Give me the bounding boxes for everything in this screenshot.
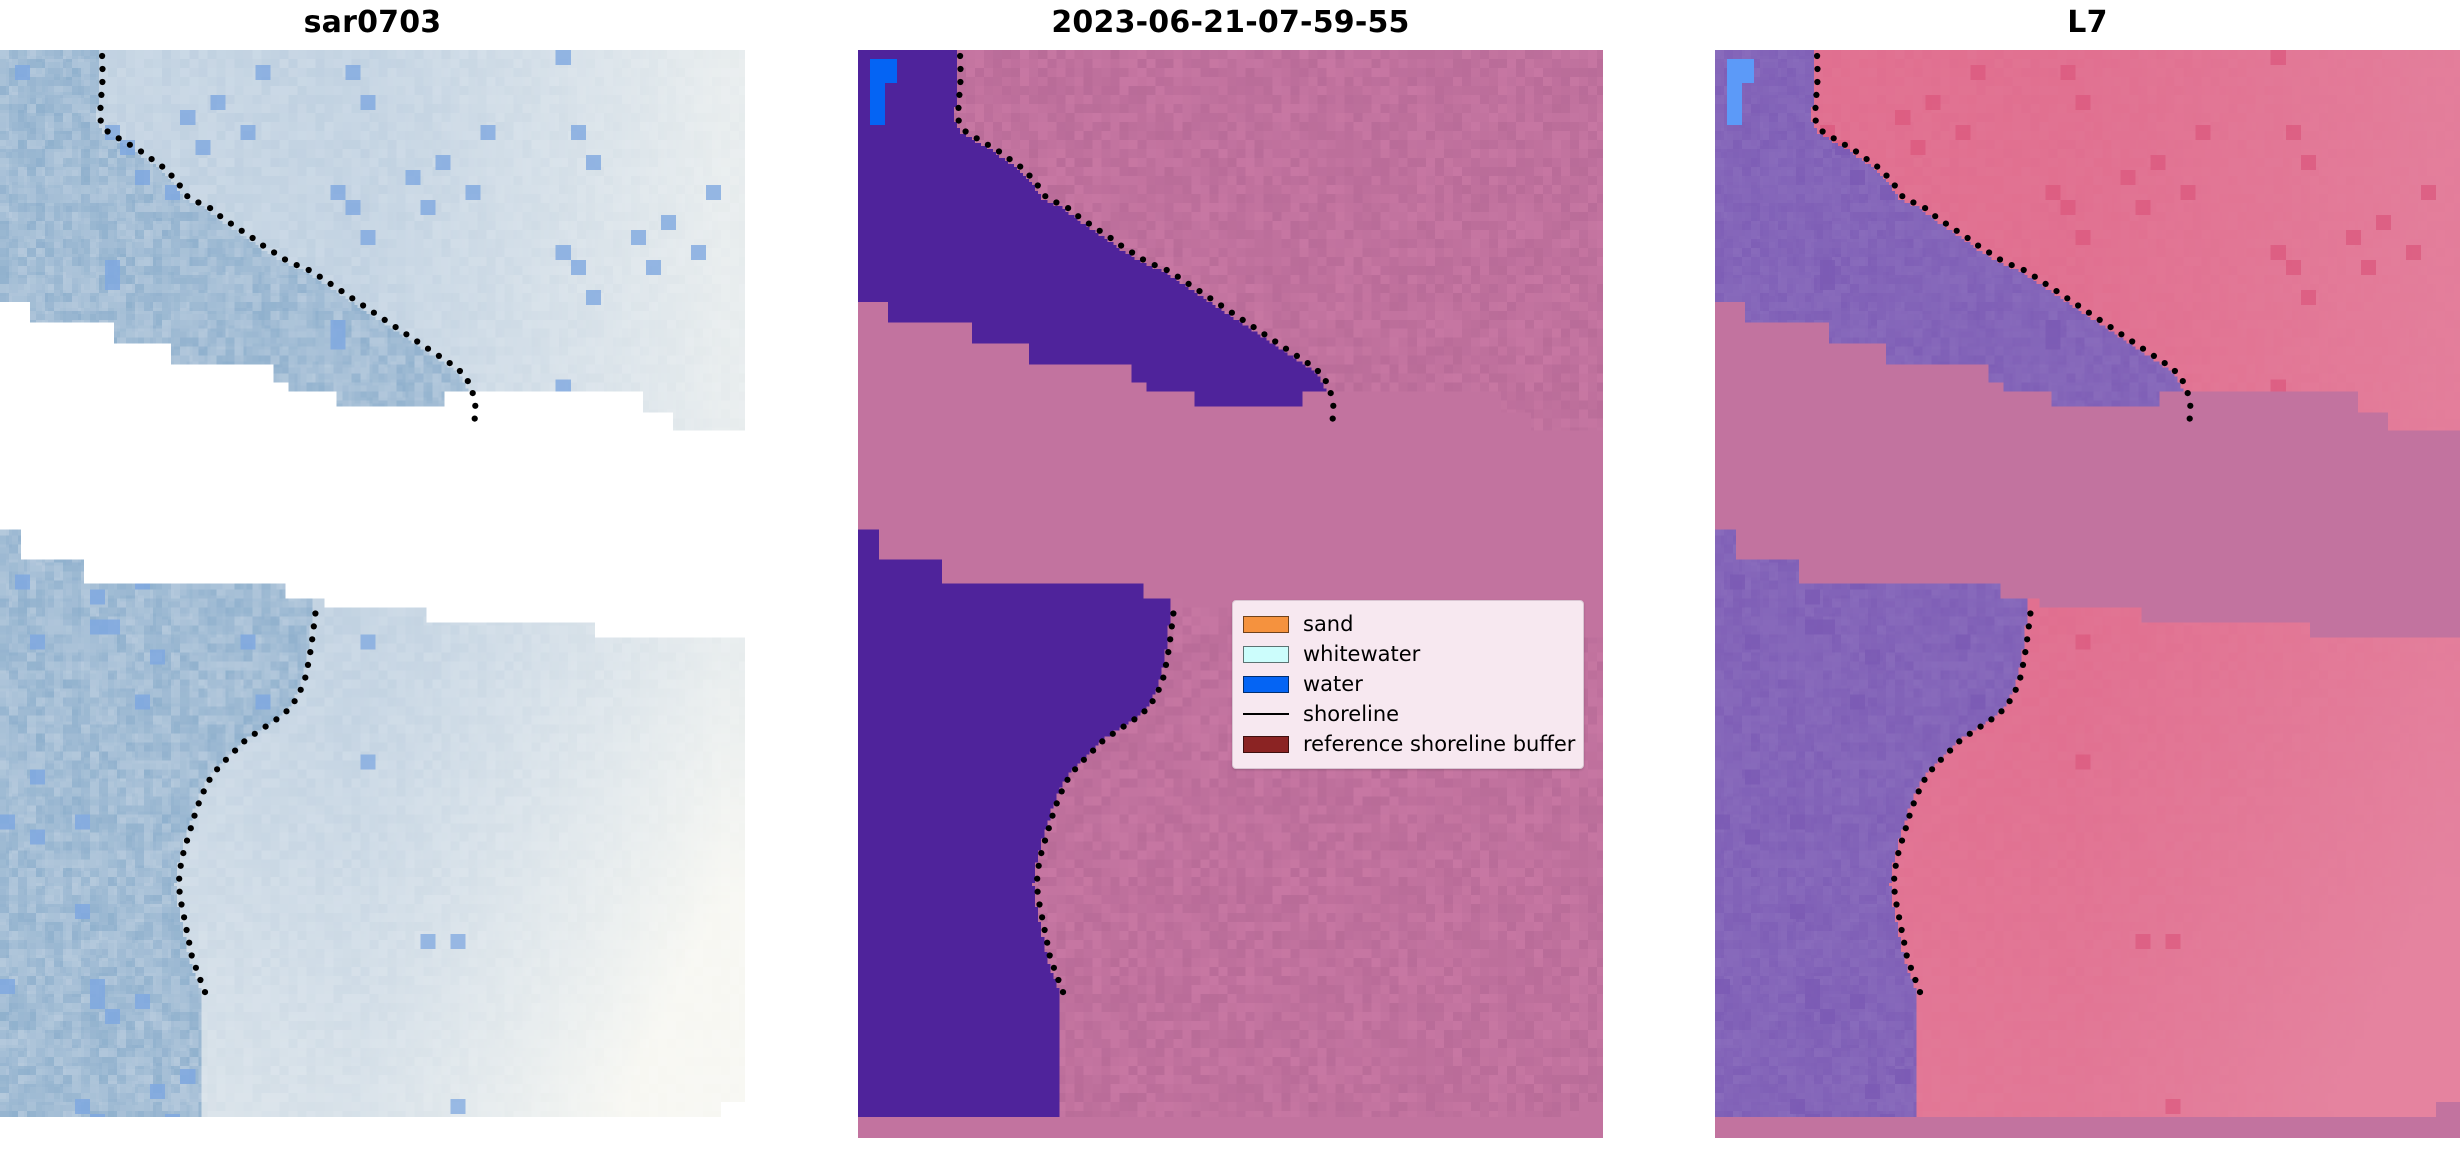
legend-box[interactable]: sand whitewater water shoreline referenc… xyxy=(1232,600,1584,769)
legend-label-shoreline: shoreline xyxy=(1303,702,1399,726)
legend-item-sand[interactable]: sand xyxy=(1243,609,1573,639)
panel-l7[interactable]: L7 xyxy=(1715,0,2460,1150)
whitewater-color-swatch xyxy=(1243,646,1289,663)
raster-image-l7 xyxy=(1715,50,2460,1138)
legend-label-water: water xyxy=(1303,672,1363,696)
panel-title-classification: 2023-06-21-07-59-55 xyxy=(858,3,1603,43)
legend-item-whitewater[interactable]: whitewater xyxy=(1243,639,1573,669)
axes-classification[interactable] xyxy=(858,50,1603,1138)
axes-sar0703[interactable] xyxy=(0,50,745,1138)
panel-title-sar0703: sar0703 xyxy=(0,3,745,43)
legend-item-reference-buffer[interactable]: reference shoreline buffer xyxy=(1243,729,1573,759)
raster-image-classification xyxy=(858,50,1603,1138)
water-color-swatch xyxy=(1243,676,1289,693)
shoreline-line-swatch xyxy=(1243,706,1289,723)
legend-item-shoreline[interactable]: shoreline xyxy=(1243,699,1573,729)
panel-title-l7: L7 xyxy=(1715,3,2460,43)
legend-item-water[interactable]: water xyxy=(1243,669,1573,699)
panel-classification[interactable]: 2023-06-21-07-59-55 xyxy=(858,0,1603,1150)
panel-sar0703[interactable]: sar0703 xyxy=(0,0,745,1150)
legend-label-sand: sand xyxy=(1303,612,1353,636)
legend-label-whitewater: whitewater xyxy=(1303,642,1420,666)
raster-image-sar0703 xyxy=(0,50,745,1138)
reference-buffer-color-swatch xyxy=(1243,736,1289,753)
legend-label-reference-buffer: reference shoreline buffer xyxy=(1303,732,1575,756)
sand-color-swatch xyxy=(1243,616,1289,633)
axes-l7[interactable] xyxy=(1715,50,2460,1138)
figure-canvas: sar0703 2023-06-21-07-59-55 L7 sand whit… xyxy=(0,0,2460,1150)
